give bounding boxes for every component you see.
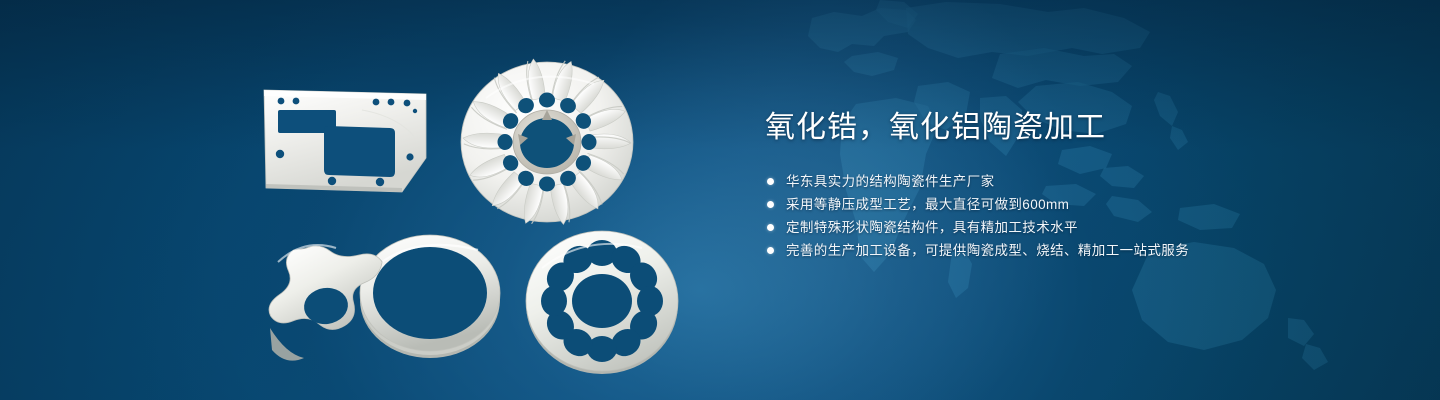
page-title: 氧化锆，氧化铝陶瓷加工: [765, 108, 1365, 148]
feature-list: 华东具实力的结构陶瓷件生产厂家 采用等静压成型工艺，最大直径可做到600mm 定…: [765, 170, 1365, 262]
list-item: 完善的生产加工设备，可提供陶瓷成型、烧结、精加工一站式服务: [765, 239, 1365, 262]
list-item: 定制特殊形状陶瓷结构件，具有精加工技术水平: [765, 216, 1365, 239]
ceramic-cross-shaped-plate-icon: [248, 232, 398, 372]
feature-text: 华东具实力的结构陶瓷件生产厂家: [786, 174, 995, 189]
ceramic-perforated-disc-icon: [520, 226, 685, 376]
feature-text: 完善的生产加工设备，可提供陶瓷成型、烧结、精加工一站式服务: [786, 243, 1189, 258]
bullet-dot-icon: [767, 201, 774, 208]
list-item: 采用等静压成型工艺，最大直径可做到600mm: [765, 193, 1365, 216]
product-photo-cluster: [0, 0, 720, 400]
list-item: 华东具实力的结构陶瓷件生产厂家: [765, 170, 1365, 193]
feature-text: 采用等静压成型工艺，最大直径可做到600mm: [786, 197, 1069, 212]
banner-copy-block: 氧化锆，氧化铝陶瓷加工 华东具实力的结构陶瓷件生产厂家 采用等静压成型工艺，最大…: [765, 108, 1365, 262]
bullet-dot-icon: [767, 224, 774, 231]
feature-text: 定制特殊形状陶瓷结构件，具有精加工技术水平: [786, 220, 1078, 235]
promo-banner: 氧化锆，氧化铝陶瓷加工 华东具实力的结构陶瓷件生产厂家 采用等静压成型工艺，最大…: [0, 0, 1440, 400]
bullet-dot-icon: [767, 247, 774, 254]
ceramic-impeller-rotor-icon: [452, 50, 642, 230]
ceramic-plate-with-cutouts-icon: [250, 80, 445, 205]
bullet-dot-icon: [767, 178, 774, 185]
